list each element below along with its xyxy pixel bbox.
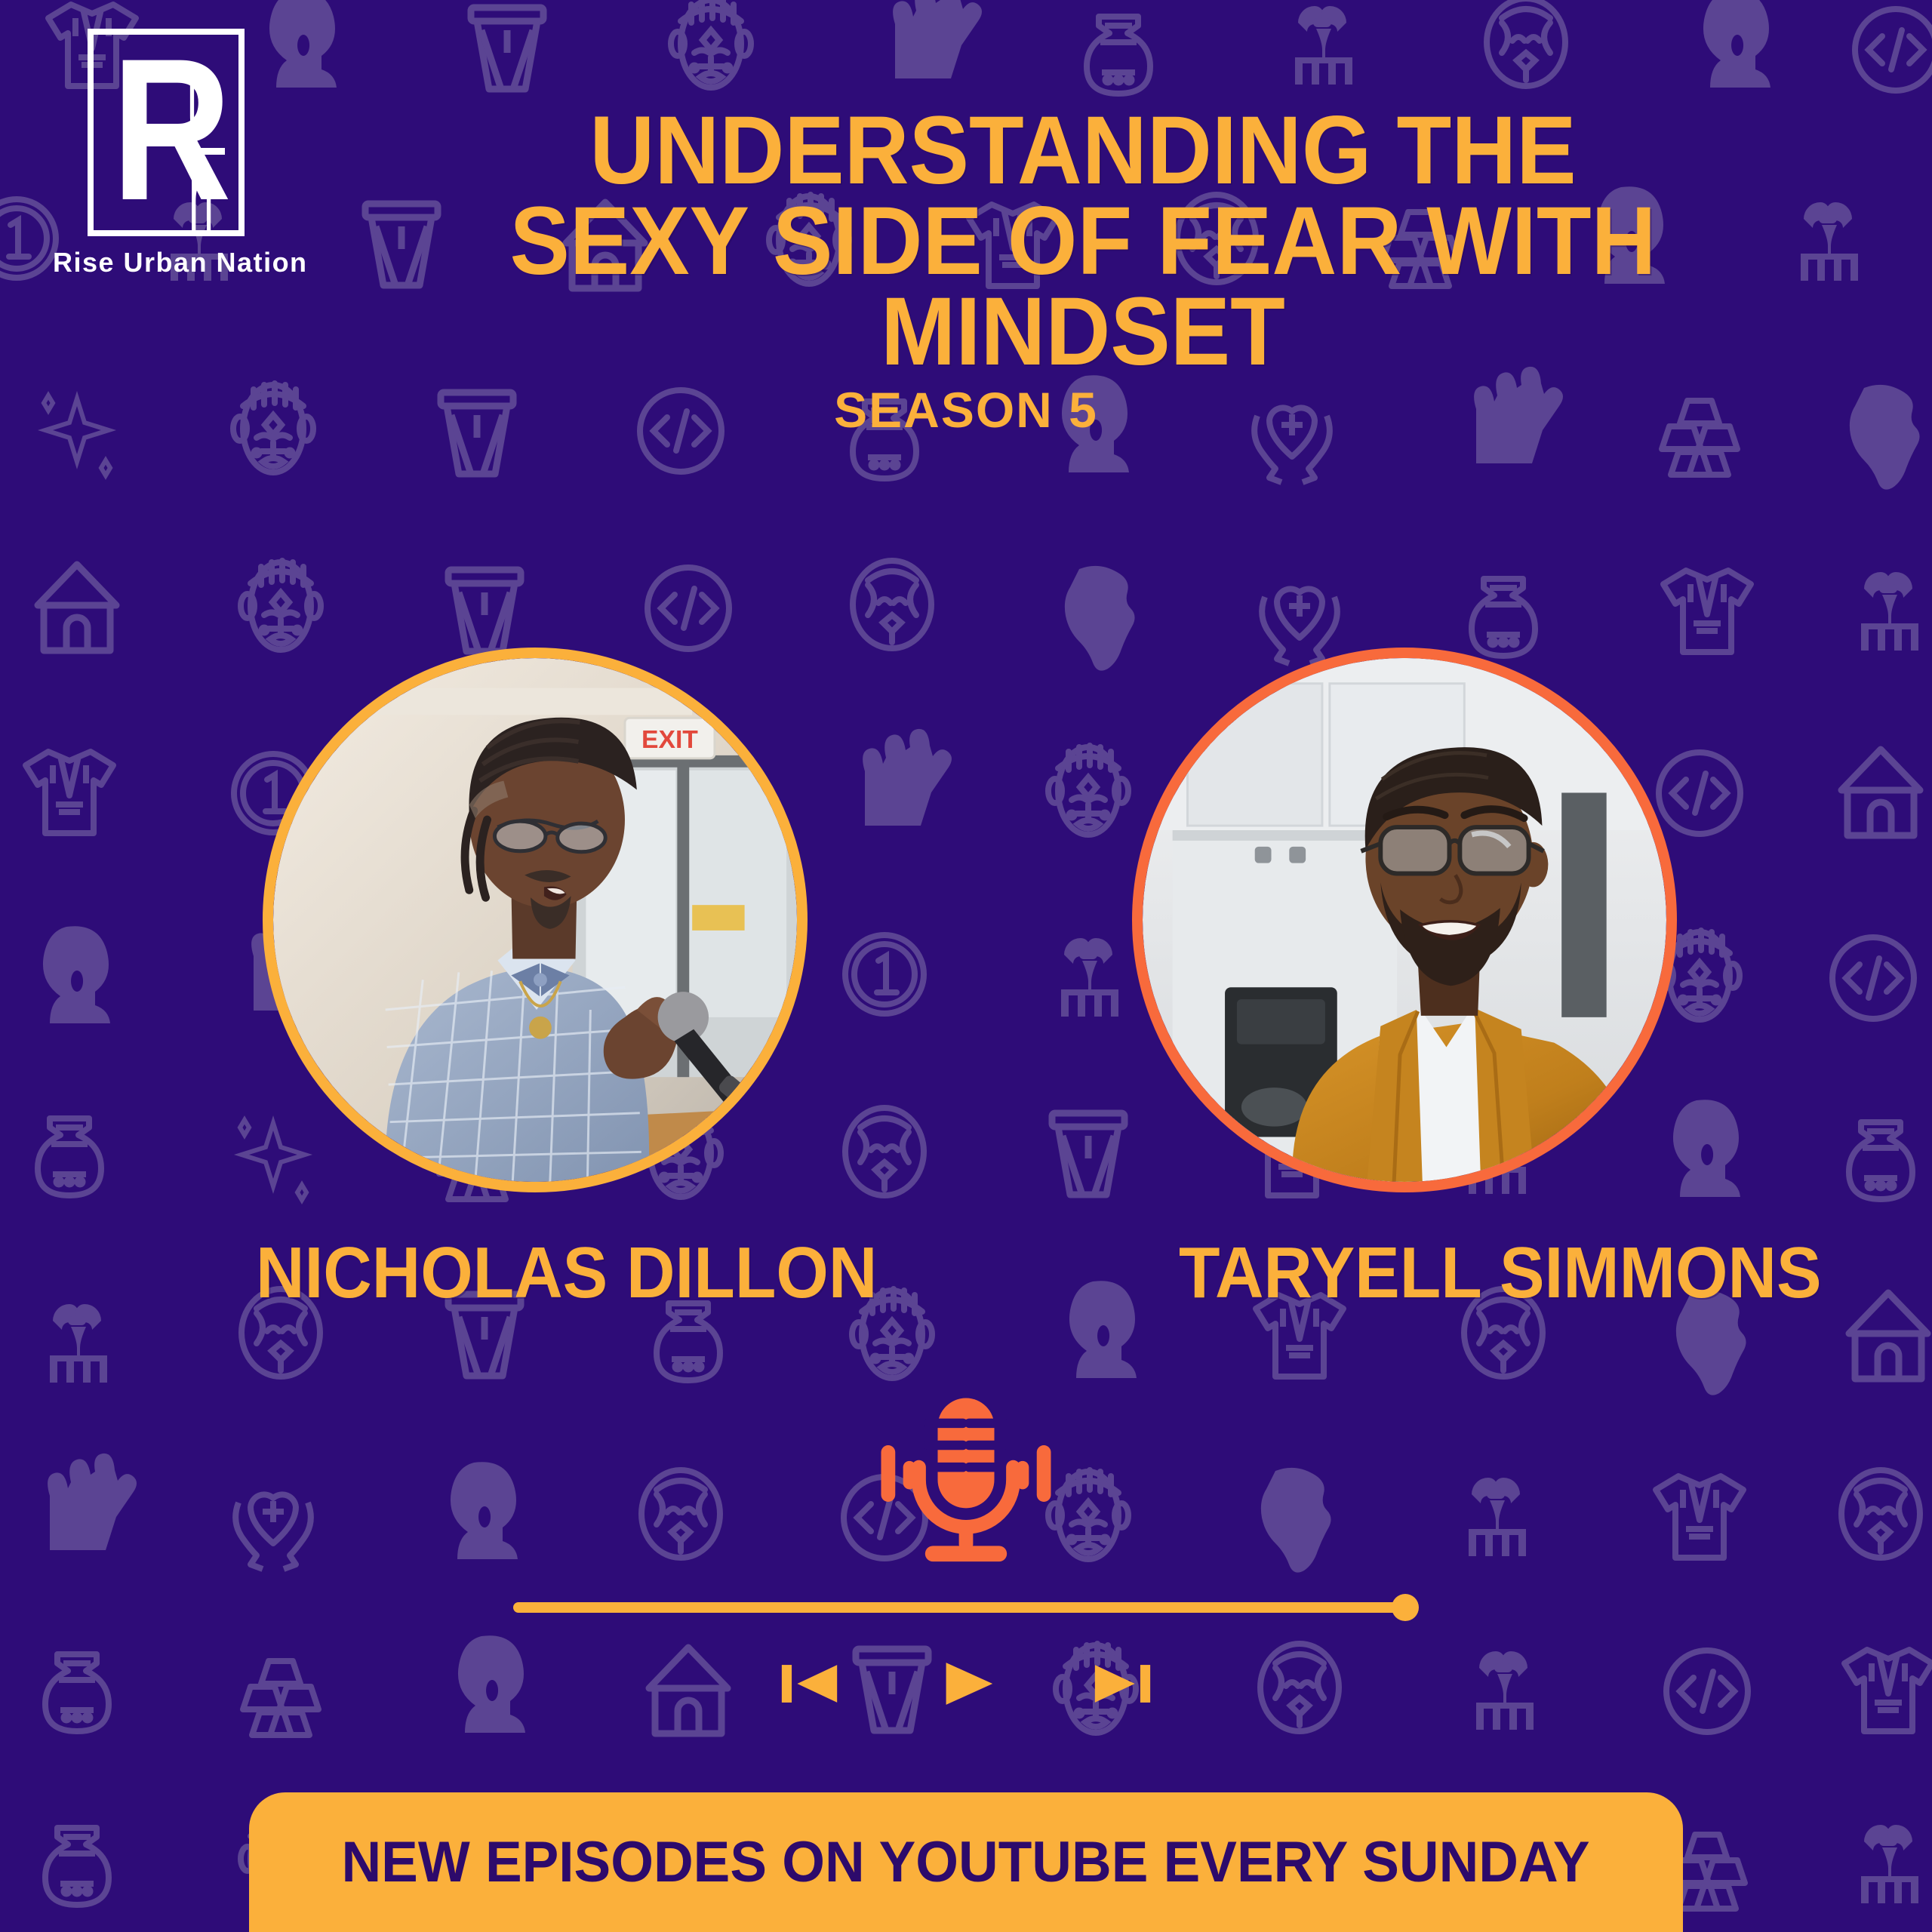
transport-controls <box>777 1657 1155 1710</box>
progress-bar[interactable] <box>513 1594 1419 1621</box>
guest-card-right: TARYELL SIMMONS <box>1132 648 1846 1315</box>
guest-photo-ring-left: EXIT <box>263 648 808 1192</box>
episode-title: UNDERSTANDING THE SEXY SIDE OF FEAR WITH… <box>377 106 1788 377</box>
guest-name-left: NICHOLAS DILLON <box>256 1232 877 1315</box>
microphone-icon <box>872 1389 1060 1577</box>
guest-name-right: TARYELL SIMMONS <box>1179 1232 1821 1315</box>
play-icon[interactable] <box>933 1657 999 1710</box>
logo-letter-n: n <box>189 162 214 235</box>
guest-photo-left: EXIT <box>273 658 797 1182</box>
guest-photo-ring-right <box>1132 648 1677 1192</box>
footer-banner: NEW EPISODES ON YOUTUBE EVERY SUNDAY <box>249 1792 1683 1932</box>
brand-logo: R u n Rise Urban Nation <box>53 29 279 278</box>
guest-card-left: EXIT <box>263 648 900 1315</box>
audio-player <box>0 1389 1932 1710</box>
svg-text:EXIT: EXIT <box>641 725 698 754</box>
logo-letter-u: u <box>187 63 212 137</box>
brand-wordmark: Rise Urban Nation <box>53 247 279 278</box>
previous-track-icon[interactable] <box>777 1657 844 1710</box>
season-label: SEASON 5 <box>0 381 1932 438</box>
progress-track[interactable] <box>513 1602 1399 1613</box>
podcast-cover-art: R u n Rise Urban Nation UNDERSTANDING TH… <box>0 0 1932 1932</box>
progress-knob[interactable] <box>1392 1594 1419 1621</box>
footer-banner-text: NEW EPISODES ON YOUTUBE EVERY SUNDAY <box>342 1829 1590 1895</box>
run-logo-mark: R u n <box>88 29 245 236</box>
title-block: UNDERSTANDING THE SEXY SIDE OF FEAR WITH… <box>325 106 1841 377</box>
guest-photo-right <box>1143 658 1666 1182</box>
next-track-icon[interactable] <box>1088 1657 1155 1710</box>
